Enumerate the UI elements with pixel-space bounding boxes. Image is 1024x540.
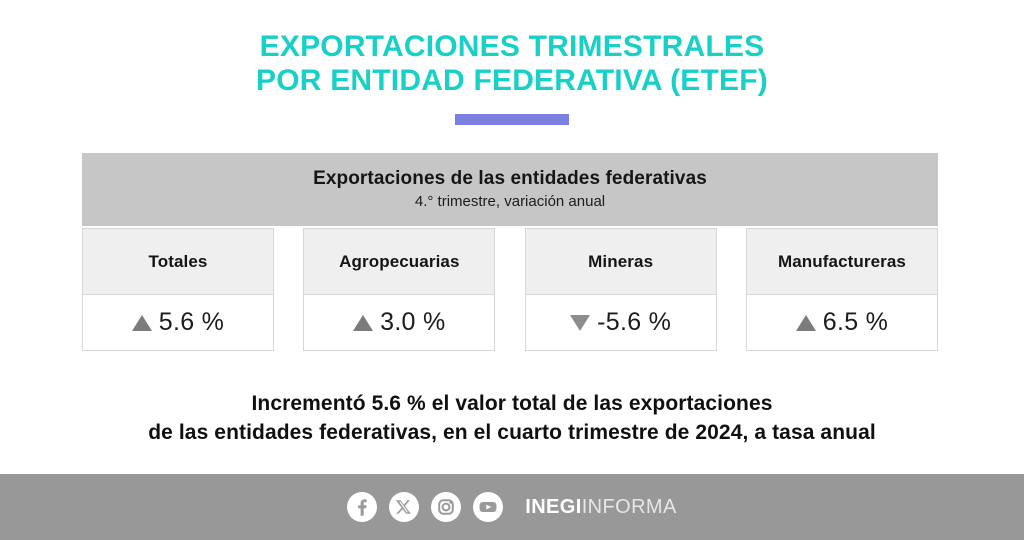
value-group: 5.6 % <box>132 308 224 337</box>
table-column-totales: Totales 5.6 % <box>82 228 274 351</box>
title-divider-rule <box>455 114 569 125</box>
value-text: 3.0 % <box>380 308 445 337</box>
table-banner-title: Exportaciones de las entidades federativ… <box>82 167 938 190</box>
table-banner: Exportaciones de las entidades federativ… <box>82 153 938 226</box>
column-header-label: Mineras <box>588 252 653 272</box>
column-header-cell: Mineras <box>525 228 717 294</box>
footer-bar: INEGIINFORMA <box>0 474 1024 540</box>
table-banner-subtitle: 4.° trimestre, variación anual <box>82 192 938 211</box>
value-text: 6.5 % <box>823 308 888 337</box>
column-header-cell: Manufactureras <box>746 228 938 294</box>
column-value-cell: 5.6 % <box>82 294 274 351</box>
table-column-mineras: Mineras -5.6 % <box>525 228 717 351</box>
footer-content: INEGIINFORMA <box>347 492 676 522</box>
summary-caption: Incrementó 5.6 % el valor total de las e… <box>0 389 1024 447</box>
trend-down-triangle-icon <box>570 315 590 331</box>
table-columns: Totales 5.6 % Agropecuarias 3.0 % <box>82 228 938 351</box>
column-header-label: Agropecuarias <box>339 252 459 272</box>
column-value-cell: -5.6 % <box>525 294 717 351</box>
value-group: 3.0 % <box>353 308 445 337</box>
brand-informa: INFORMA <box>582 496 677 518</box>
x-twitter-icon[interactable] <box>389 492 419 522</box>
column-header-cell: Agropecuarias <box>303 228 495 294</box>
value-group: 6.5 % <box>796 308 888 337</box>
trend-up-triangle-icon <box>132 315 152 331</box>
caption-line-1: Incrementó 5.6 % el valor total de las e… <box>0 389 1024 418</box>
page-title: EXPORTACIONES TRIMESTRALES POR ENTIDAD F… <box>0 30 1024 98</box>
page-title-line-2: POR ENTIDAD FEDERATIVA (ETEF) <box>0 64 1024 98</box>
value-group: -5.6 % <box>570 308 671 337</box>
table-column-agropecuarias: Agropecuarias 3.0 % <box>303 228 495 351</box>
value-text: -5.6 % <box>597 308 671 337</box>
brand-inegi: INEGI <box>525 496 581 518</box>
column-header-label: Totales <box>149 252 208 272</box>
instagram-icon[interactable] <box>431 492 461 522</box>
page-title-line-1: EXPORTACIONES TRIMESTRALES <box>0 30 1024 64</box>
youtube-icon[interactable] <box>473 492 503 522</box>
trend-up-triangle-icon <box>353 315 373 331</box>
caption-line-2: de las entidades federativas, en el cuar… <box>0 418 1024 447</box>
value-text: 5.6 % <box>159 308 224 337</box>
column-value-cell: 3.0 % <box>303 294 495 351</box>
trend-up-triangle-icon <box>796 315 816 331</box>
facebook-icon[interactable] <box>347 492 377 522</box>
indicator-table: Exportaciones de las entidades federativ… <box>82 153 938 351</box>
column-header-cell: Totales <box>82 228 274 294</box>
table-column-manufactureras: Manufactureras 6.5 % <box>746 228 938 351</box>
infographic-canvas: EXPORTACIONES TRIMESTRALES POR ENTIDAD F… <box>0 0 1024 540</box>
column-value-cell: 6.5 % <box>746 294 938 351</box>
column-header-label: Manufactureras <box>778 252 906 272</box>
brand-wordmark: INEGIINFORMA <box>525 496 676 519</box>
title-block: EXPORTACIONES TRIMESTRALES POR ENTIDAD F… <box>0 30 1024 125</box>
